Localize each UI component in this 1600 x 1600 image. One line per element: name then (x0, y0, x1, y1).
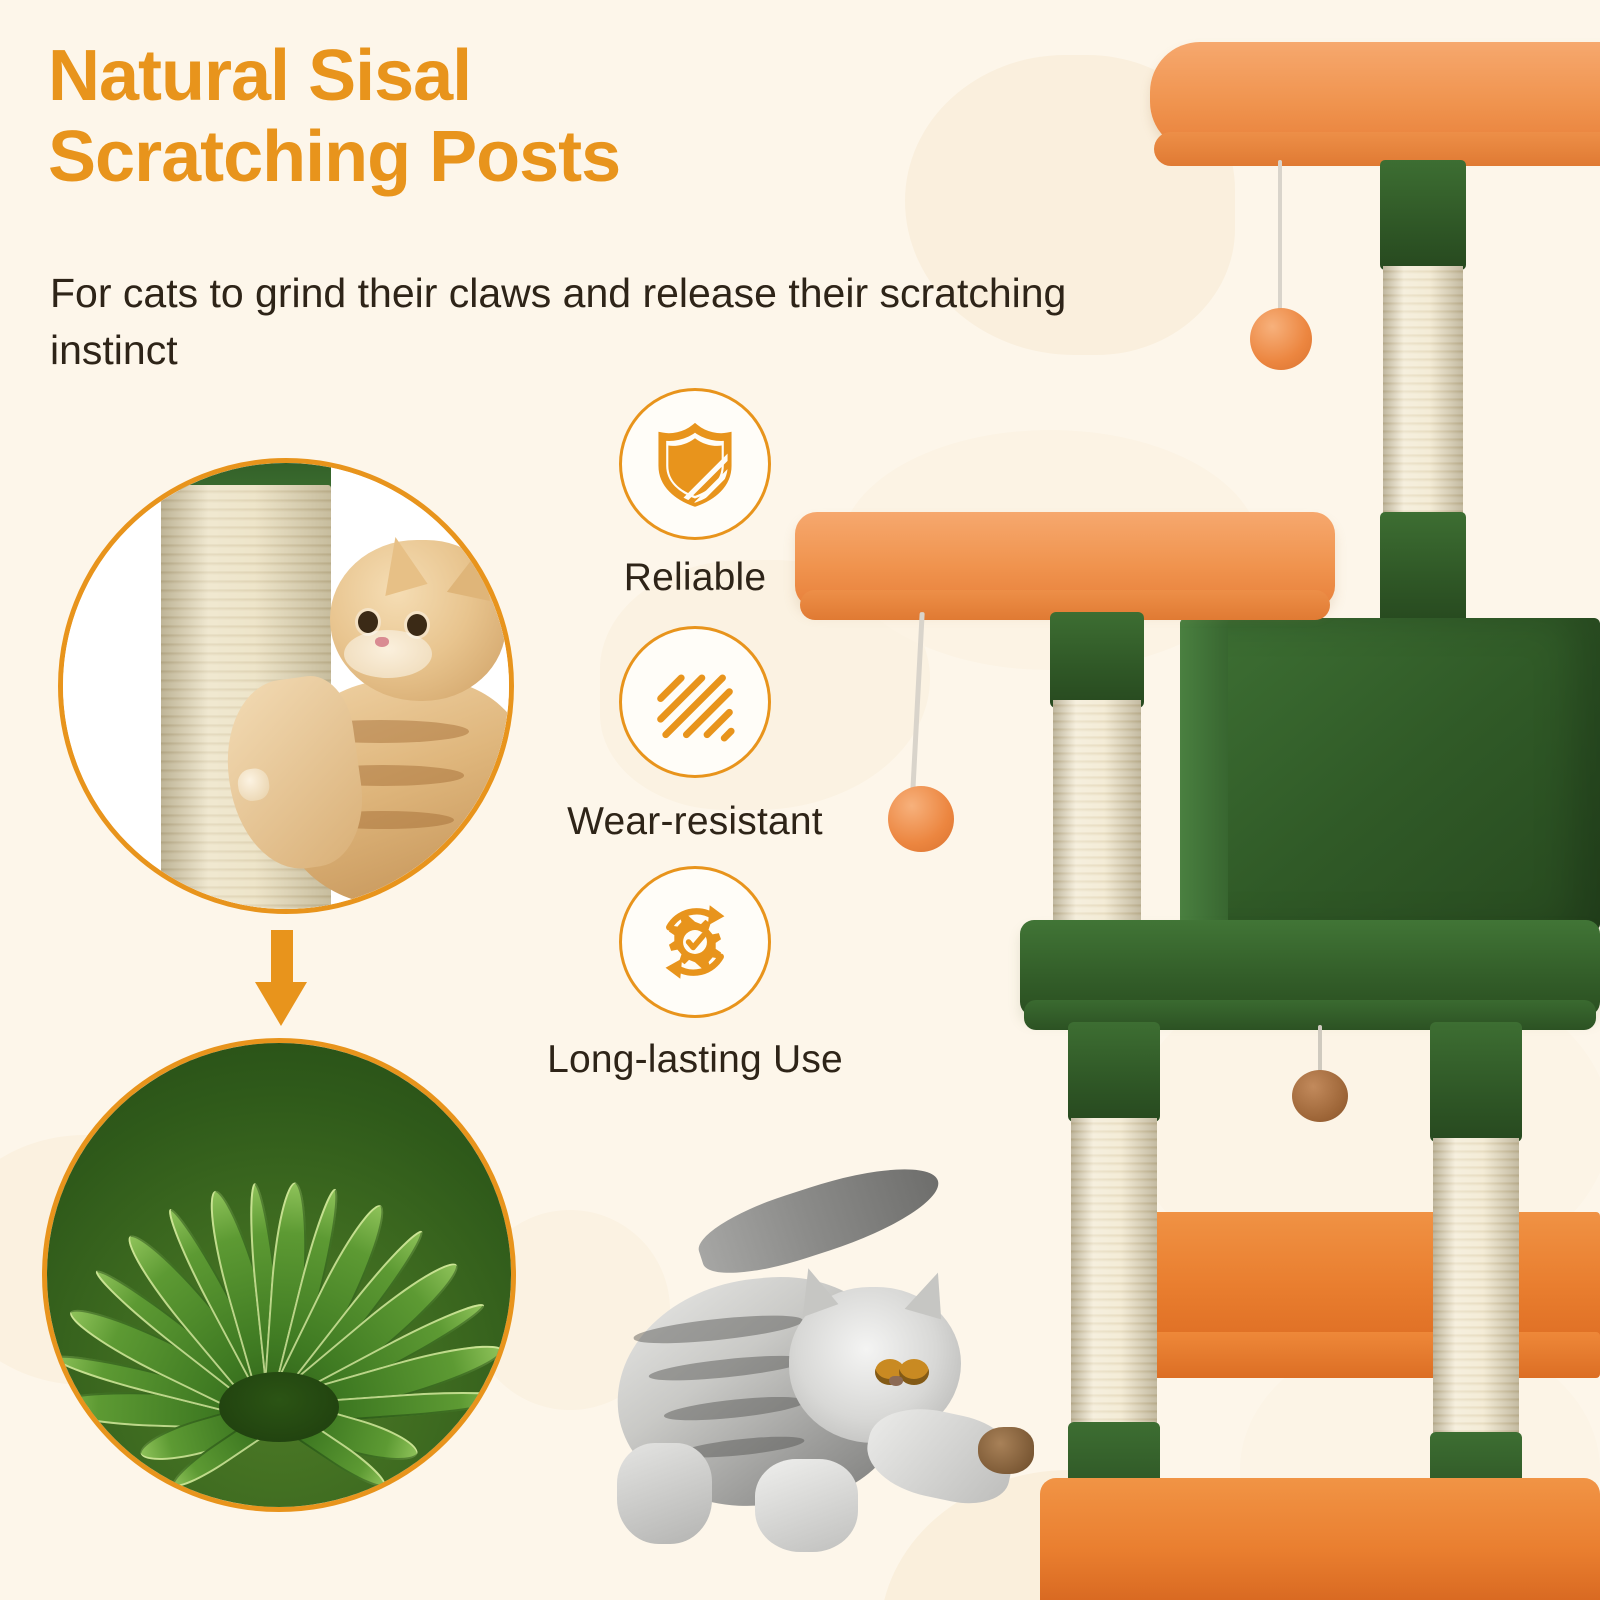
post-green-cap-top (1380, 160, 1466, 270)
cat-ear-left (371, 532, 428, 596)
sisal-agave-plant-photo (42, 1038, 516, 1512)
post-green-cap-top (1050, 612, 1144, 708)
cat-tree-condo (1180, 618, 1600, 930)
cat-eye (358, 611, 378, 633)
cat-tree-condo-side (1180, 618, 1228, 930)
headline-line-2: Scratching Posts (48, 117, 928, 198)
page-subtitle: For cats to grind their claws and releas… (50, 265, 1110, 378)
kitten-hind-leg (617, 1443, 712, 1544)
feature-label: Wear-resistant (567, 800, 823, 844)
cat-paw (236, 766, 271, 802)
headline-line-1: Natural Sisal (48, 36, 471, 116)
cat-scratching-post-photo (58, 458, 514, 914)
diagonal-hatch-icon (619, 626, 771, 778)
feature-item-reliable: Reliable (505, 388, 885, 600)
cat-eye (407, 614, 427, 636)
cat-tree-base-shelf-edge (1136, 1332, 1600, 1378)
hanging-pom-pom-ball (1292, 1070, 1348, 1122)
kitten-nose (889, 1376, 903, 1386)
feature-label: Reliable (624, 556, 767, 600)
agave-center (219, 1372, 339, 1442)
toy-string (1278, 160, 1282, 315)
kitten-eye (899, 1359, 929, 1385)
hanging-pom-pom-ball (1250, 308, 1312, 370)
shield-icon (619, 388, 771, 540)
cat-tree-photo (940, 0, 1600, 1600)
feature-item-long-lasting: Long-lasting Use (505, 866, 885, 1082)
post-green-cap-top (1068, 1022, 1160, 1122)
sisal-scratching-post (1071, 1118, 1157, 1428)
cat-tree-top-perch-edge (1154, 132, 1600, 166)
agave-plant-illustration (47, 1043, 511, 1507)
cat-tree-base-platform (1040, 1478, 1600, 1600)
cat-tree-base-shelf (1136, 1212, 1600, 1346)
arrow-shaft (271, 930, 293, 988)
arrow-head (255, 982, 307, 1026)
sisal-scratching-post (1433, 1138, 1519, 1438)
sisal-scratching-post (1383, 266, 1463, 516)
kitten-mid-leg (755, 1459, 858, 1553)
cat-nose (375, 637, 389, 647)
gear-check-cycle-icon (619, 866, 771, 1018)
post-green-cap-bottom (1380, 512, 1466, 624)
feature-label: Long-lasting Use (547, 1038, 843, 1082)
feature-item-wear-resistant: Wear-resistant (505, 626, 885, 844)
cat-head (330, 540, 507, 701)
post-green-cap-top (1430, 1022, 1522, 1142)
ginger-cat-illustration (224, 525, 514, 891)
cat-muzzle (344, 630, 432, 678)
cat-ear-right (446, 539, 500, 601)
feature-list: Reliable Wear-resistant (505, 388, 885, 1108)
photo-inner (63, 463, 509, 909)
down-arrow-icon (255, 930, 307, 1025)
page-title: Natural Sisal Scratching Posts (48, 36, 928, 197)
kitten-toy (978, 1427, 1034, 1474)
playing-kitten-photo (600, 1170, 1030, 1560)
hanging-pom-pom-ball (888, 786, 954, 852)
